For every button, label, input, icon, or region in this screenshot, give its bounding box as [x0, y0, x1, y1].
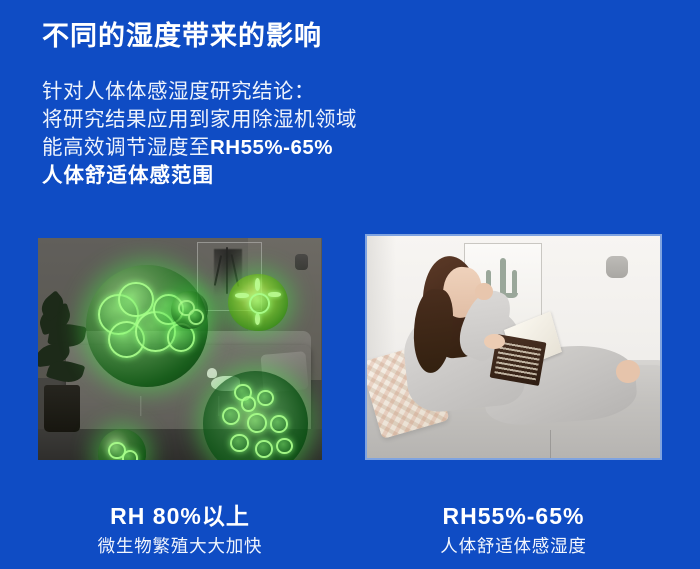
- woman-hand-holding-book: [484, 334, 505, 350]
- caption-title-comfort: RH55%-65%: [365, 502, 662, 531]
- wall-sensor-icon: [606, 256, 628, 278]
- page-title: 不同的湿度带来的影响: [42, 20, 322, 52]
- dark-room-scene: [38, 238, 322, 460]
- woman-foot: [616, 360, 639, 382]
- photo-high-humidity: [38, 238, 322, 460]
- caption-comfort-humidity: RH55%-65% 人体舒适体感湿度: [365, 502, 662, 558]
- body-line-2: 将研究结果应用到家用除湿机领域: [42, 106, 357, 134]
- caption-title-high: RH 80%以上: [38, 502, 322, 531]
- light-room-scene: [367, 236, 660, 458]
- woman-hand-on-head: [475, 283, 493, 301]
- body-line-3: 能高效调节湿度至RH55%-65%: [42, 134, 357, 162]
- dark-wall-device-icon: [295, 254, 308, 270]
- body-line-3-prefix: 能高效调节湿度至: [42, 136, 210, 159]
- caption-sub-comfort: 人体舒适体感湿度: [365, 536, 662, 558]
- body-line-4: 人体舒适体感范围: [42, 162, 357, 190]
- humidity-range-highlight: RH55%-65%: [210, 136, 333, 159]
- body-copy: 针对人体体感湿度研究结论： 将研究结果应用到家用除湿机领域 能高效调节湿度至RH…: [42, 78, 357, 190]
- poster-root: 不同的湿度带来的影响 针对人体体感湿度研究结论： 将研究结果应用到家用除湿机领域…: [0, 0, 700, 569]
- body-line-1: 针对人体体感湿度研究结论：: [42, 78, 357, 106]
- microbe-sphere-bright: [228, 274, 288, 332]
- photo-comfort-humidity: [365, 234, 662, 460]
- caption-sub-high: 微生物繁殖大大加快: [38, 536, 322, 558]
- caption-high-humidity: RH 80%以上 微生物繁殖大大加快: [38, 502, 322, 558]
